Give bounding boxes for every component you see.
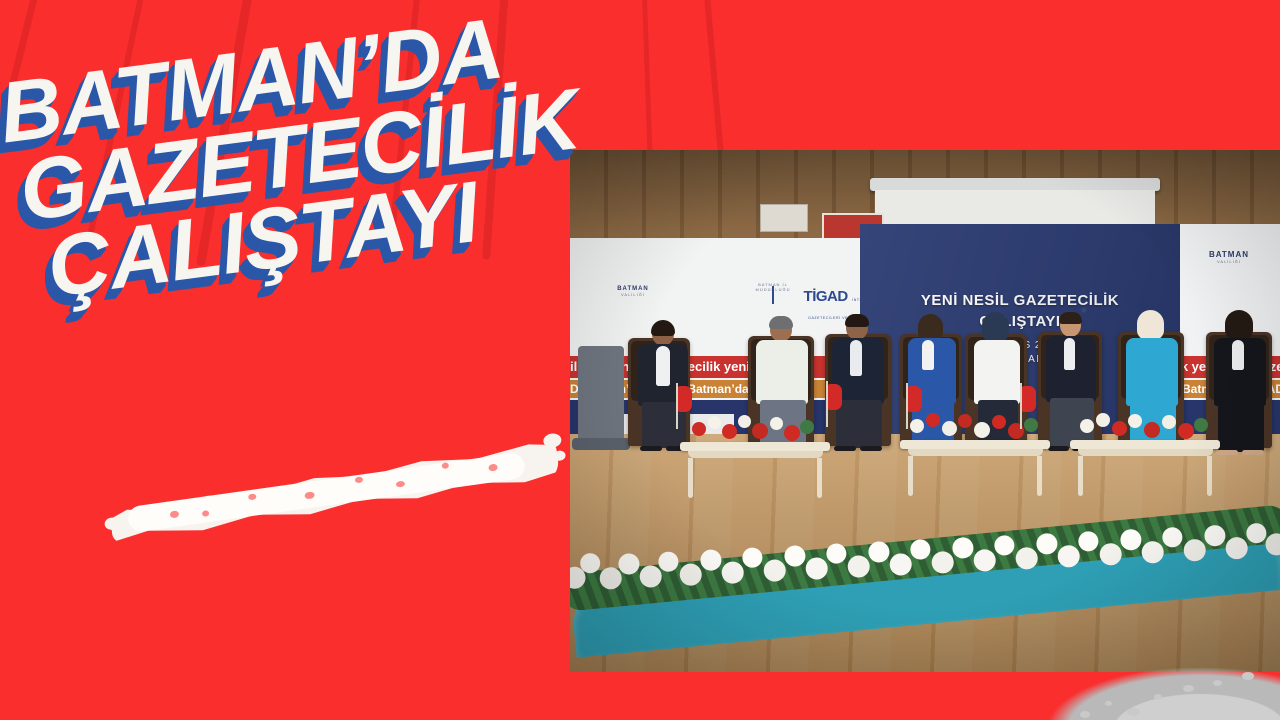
- white-brush-stroke: [105, 420, 569, 557]
- event-photo: BATMAN VALİLİĞİ BATMAN İL MÜDÜRLÜĞÜ TİGA…: [570, 150, 1280, 672]
- thumbnail-canvas: BATMAN VALİLİĞİ BATMAN İL MÜDÜRLÜĞÜ TİGA…: [0, 0, 1280, 720]
- grey-paint-splatter: [1000, 650, 1280, 720]
